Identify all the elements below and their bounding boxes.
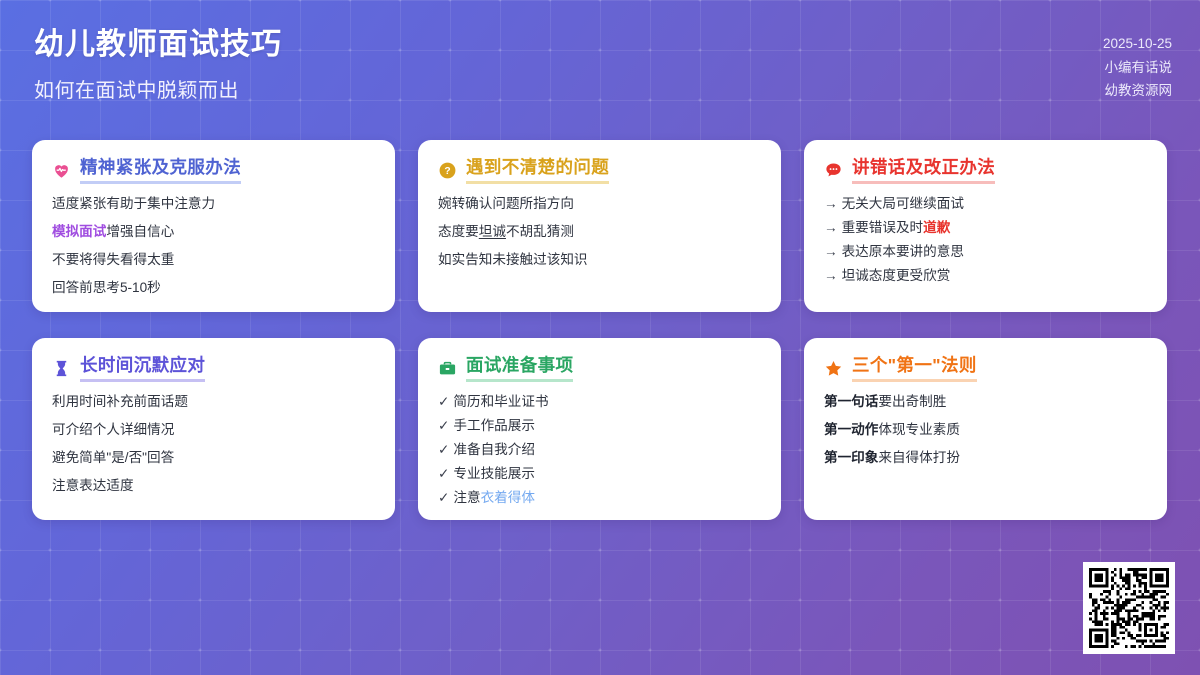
text-span: 要出奇制胜: [878, 394, 946, 409]
card-grid: 精神紧张及克服办法适度紧张有助于集中注意力模拟面试增强自信心不要将得失看得太重回…: [32, 140, 1168, 520]
text-span: 体现专业素质: [878, 422, 960, 437]
text-span: 避免简单"是/否"回答: [52, 450, 174, 465]
text-span: 第一印象: [824, 450, 878, 465]
text-span: 婉转确认问题所指方向: [438, 196, 574, 211]
text-span: 态度要: [438, 224, 479, 239]
card-line: →坦诚态度更受欣赏: [824, 269, 1147, 284]
card-header: 面试准备事项: [438, 355, 761, 382]
text-span: 准备自我介绍: [453, 442, 535, 457]
text-span: 来自得体打扮: [878, 450, 960, 465]
card-line: 婉转确认问题所指方向: [438, 197, 761, 212]
meta-date: 2025-10-25: [1103, 32, 1172, 56]
check-icon: ✓: [438, 418, 449, 433]
page-title: 幼儿教师面试技巧: [34, 26, 282, 64]
text-span: 简历和毕业证书: [453, 394, 548, 409]
card-line: →表达原本要讲的意思: [824, 245, 1147, 260]
card-line: 回答前思考5-10秒: [52, 281, 375, 296]
card-line: ✓简历和毕业证书: [438, 395, 761, 410]
text-span: 专业技能展示: [453, 466, 535, 481]
text-span: 坦诚: [479, 224, 506, 239]
text-span: 无关大局可继续面试: [842, 196, 964, 211]
card-misspoken-fix: 讲错话及改正办法→无关大局可继续面试→重要错误及时道歉→表达原本要讲的意思→坦诚…: [804, 140, 1167, 312]
card-line: 不要将得失看得太重: [52, 253, 375, 268]
card-title: 精神紧张及克服办法: [80, 157, 241, 184]
question-circle-icon: ?: [438, 161, 457, 180]
card-line: 第一句话要出奇制胜: [824, 395, 1147, 410]
card-line: 适度紧张有助于集中注意力: [52, 197, 375, 212]
check-icon: ✓: [438, 466, 449, 481]
meta-source: 幼教资源网: [1103, 79, 1172, 103]
card-title: 讲错话及改正办法: [852, 157, 995, 184]
arrow-icon: →: [824, 220, 838, 235]
heartbeat-icon: [52, 161, 71, 180]
card-header: 三个"第一"法则: [824, 355, 1147, 382]
card-line: 注意表达适度: [52, 479, 375, 494]
card-line: ✓准备自我介绍: [438, 443, 761, 458]
hourglass-icon: [52, 359, 71, 378]
text-span: 注意: [453, 490, 480, 505]
card-body: 适度紧张有助于集中注意力模拟面试增强自信心不要将得失看得太重回答前思考5-10秒: [52, 197, 375, 296]
card-header: 讲错话及改正办法: [824, 157, 1147, 184]
card-body: ✓简历和毕业证书✓手工作品展示✓准备自我介绍✓专业技能展示✓注意衣着得体: [438, 395, 761, 506]
card-header: 长时间沉默应对: [52, 355, 375, 382]
card-line: ✓专业技能展示: [438, 467, 761, 482]
qr-code-image: [1089, 568, 1169, 648]
text-span: 不胡乱猜测: [506, 224, 574, 239]
text-span: 可介绍个人详细情况: [52, 422, 174, 437]
card-header: ?遇到不清楚的问题: [438, 157, 761, 184]
card-line: 模拟面试增强自信心: [52, 225, 375, 240]
check-icon: ✓: [438, 394, 449, 409]
card-body: 利用时间补充前面话题可介绍个人详细情况避免简单"是/否"回答注意表达适度: [52, 395, 375, 494]
text-span: 手工作品展示: [453, 418, 535, 433]
text-span: 回答前思考5-10秒: [52, 280, 161, 295]
text-span: 不要将得失看得太重: [52, 252, 174, 267]
card-line: 如实告知未接触过该知识: [438, 253, 761, 268]
text-span: 适度紧张有助于集中注意力: [52, 196, 215, 211]
page-subtitle: 如何在面试中脱颖而出: [34, 74, 282, 103]
card-line: 利用时间补充前面话题: [52, 395, 375, 410]
card-line: 第一动作体现专业素质: [824, 423, 1147, 438]
card-line: 态度要坦诚不胡乱猜测: [438, 225, 761, 240]
card-body: →无关大局可继续面试→重要错误及时道歉→表达原本要讲的意思→坦诚态度更受欣赏: [824, 197, 1147, 284]
arrow-icon: →: [824, 244, 838, 259]
card-title: 面试准备事项: [466, 355, 573, 382]
card-three-firsts: 三个"第一"法则第一句话要出奇制胜第一动作体现专业素质第一印象来自得体打扮: [804, 338, 1167, 520]
text-span: 第一句话: [824, 394, 878, 409]
check-icon: ✓: [438, 490, 449, 505]
text-span: 如实告知未接触过该知识: [438, 252, 588, 267]
text-span: 衣着得体: [481, 490, 535, 505]
card-title: 三个"第一"法则: [852, 355, 977, 382]
arrow-icon: →: [824, 196, 838, 211]
text-span: 重要错误及时: [842, 220, 924, 235]
text-span: 第一动作: [824, 422, 878, 437]
card-header: 精神紧张及克服办法: [52, 157, 375, 184]
title-block: 幼儿教师面试技巧 如何在面试中脱颖而出: [34, 26, 282, 103]
text-span: 坦诚态度更受欣赏: [842, 268, 951, 283]
card-long-silence: 长时间沉默应对利用时间补充前面话题可介绍个人详细情况避免简单"是/否"回答注意表…: [32, 338, 395, 520]
arrow-icon: →: [824, 268, 838, 283]
text-span: 道歉: [923, 220, 950, 235]
text-span: 表达原本要讲的意思: [842, 244, 964, 259]
briefcase-icon: [438, 359, 457, 378]
card-title: 长时间沉默应对: [80, 355, 205, 382]
card-line: 第一印象来自得体打扮: [824, 451, 1147, 466]
svg-text:?: ?: [444, 166, 450, 177]
text-span: 利用时间补充前面话题: [52, 394, 188, 409]
header-meta: 2025-10-25 小编有话说 幼教资源网: [1103, 26, 1172, 103]
card-line: →无关大局可继续面试: [824, 197, 1147, 212]
header: 幼儿教师面试技巧 如何在面试中脱颖而出 2025-10-25 小编有话说 幼教资…: [0, 0, 1200, 125]
card-line: ✓手工作品展示: [438, 419, 761, 434]
card-unclear-question: ?遇到不清楚的问题婉转确认问题所指方向态度要坦诚不胡乱猜测如实告知未接触过该知识: [418, 140, 781, 312]
text-span: 增强自信心: [106, 224, 174, 239]
card-body: 第一句话要出奇制胜第一动作体现专业素质第一印象来自得体打扮: [824, 395, 1147, 466]
card-interview-prep: 面试准备事项✓简历和毕业证书✓手工作品展示✓准备自我介绍✓专业技能展示✓注意衣着…: [418, 338, 781, 520]
meta-byline: 小编有话说: [1103, 56, 1172, 80]
text-span: 模拟面试: [52, 224, 106, 239]
check-icon: ✓: [438, 442, 449, 457]
card-body: 婉转确认问题所指方向态度要坦诚不胡乱猜测如实告知未接触过该知识: [438, 197, 761, 268]
card-line: →重要错误及时道歉: [824, 221, 1147, 236]
card-line: ✓注意衣着得体: [438, 491, 761, 506]
qr-code[interactable]: [1083, 562, 1175, 654]
star-icon: [824, 359, 843, 378]
card-title: 遇到不清楚的问题: [466, 157, 609, 184]
speech-bubble-icon: [824, 161, 843, 180]
card-line: 可介绍个人详细情况: [52, 423, 375, 438]
card-line: 避免简单"是/否"回答: [52, 451, 375, 466]
card-mental-tension: 精神紧张及克服办法适度紧张有助于集中注意力模拟面试增强自信心不要将得失看得太重回…: [32, 140, 395, 312]
text-span: 注意表达适度: [52, 478, 134, 493]
